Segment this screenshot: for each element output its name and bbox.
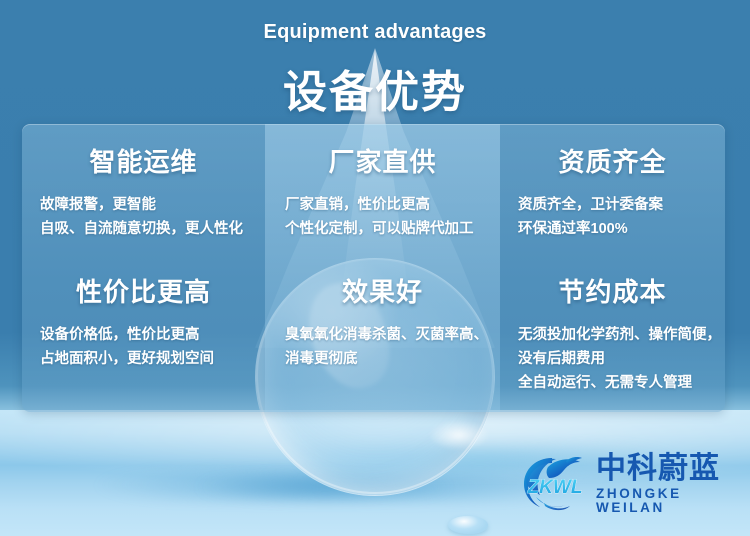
advantage-card-2-body: 厂家直销，性价比更高 个性化定制，可以贴牌代加工 (281, 193, 484, 241)
advantage-card-4-body: 设备价格低，性价比更高 占地面积小，更好规划空间 (38, 323, 249, 371)
brand-pinyin-name: ZHONGKE WEILAN (596, 487, 733, 514)
advantage-card-5-line-2: 消毒更彻底 (285, 347, 484, 371)
advantages-grid: 智能运维 故障报警，更智能 自吸、自流随意切换，更人性化 厂家直供 厂家直销，性… (22, 124, 725, 412)
brand-chinese-name: 中科蔚蓝 (596, 454, 733, 484)
dolphin-circle-icon: ZKWL (518, 453, 590, 515)
advantages-panel: 智能运维 故障报警，更智能 自吸、自流随意切换，更人性化 厂家直供 厂家直销，性… (22, 124, 725, 412)
advantage-card-5-body: 臭氧氧化消毒杀菌、灭菌率高、 消毒更彻底 (281, 323, 484, 371)
advantage-card-3-line-2: 环保通过率100% (518, 217, 709, 241)
advantage-card-1-line-1: 故障报警，更智能 (40, 193, 249, 217)
advantage-card-5-line-1: 臭氧氧化消毒杀菌、灭菌率高、 (285, 323, 484, 347)
poster-canvas: Equipment advantages 设备优势 智能运维 故障报警，更智能 … (0, 0, 750, 536)
brand-logo[interactable]: ZKWL 中科蔚蓝 ZHONGKE WEILAN (518, 450, 733, 518)
advantage-card-6-line-2: 没有后期费用 (518, 347, 709, 371)
advantage-card-3-body: 资质齐全，卫计委备案 环保通过率100% (516, 193, 709, 241)
advantage-card-3[interactable]: 资质齐全 资质齐全，卫计委备案 环保通过率100% (500, 124, 725, 258)
advantage-card-2-line-2: 个性化定制，可以贴牌代加工 (285, 217, 484, 241)
advantage-card-2-title: 厂家直供 (281, 142, 484, 179)
advantage-card-2[interactable]: 厂家直供 厂家直销，性价比更高 个性化定制，可以贴牌代加工 (265, 124, 500, 258)
advantage-card-1-title: 智能运维 (38, 142, 249, 179)
surface-highlight-left (0, 468, 560, 502)
advantage-card-5-title: 效果好 (281, 272, 484, 309)
advantage-card-4-line-1: 设备价格低，性价比更高 (40, 323, 249, 347)
advantage-card-6-title: 节约成本 (516, 272, 709, 309)
advantage-card-2-line-1: 厂家直销，性价比更高 (285, 193, 484, 217)
advantage-card-4[interactable]: 性价比更高 设备价格低，性价比更高 占地面积小，更好规划空间 (22, 258, 265, 412)
advantage-card-6[interactable]: 节约成本 无须投加化学药剂、操作简便， 没有后期费用 全自动运行、无需专人管理 (500, 258, 725, 412)
advantage-card-3-title: 资质齐全 (516, 142, 709, 179)
advantage-card-5[interactable]: 效果好 臭氧氧化消毒杀菌、灭菌率高、 消毒更彻底 (265, 258, 500, 412)
svg-text:ZKWL: ZKWL (527, 477, 583, 498)
advantage-card-4-title: 性价比更高 (38, 272, 249, 309)
advantage-card-4-line-2: 占地面积小，更好规划空间 (40, 347, 249, 371)
advantage-card-1-line-2: 自吸、自流随意切换，更人性化 (40, 217, 249, 241)
advantage-card-3-line-1: 资质齐全，卫计委备案 (518, 193, 709, 217)
advantage-card-1[interactable]: 智能运维 故障报警，更智能 自吸、自流随意切换，更人性化 (22, 124, 265, 258)
header-english-title: Equipment advantages (0, 21, 750, 44)
advantage-card-6-body: 无须投加化学药剂、操作简便， 没有后期费用 全自动运行、无需专人管理 (516, 323, 709, 395)
brand-logo-text: 中科蔚蓝 ZHONGKE WEILAN (596, 454, 733, 514)
advantage-card-6-line-1: 无须投加化学药剂、操作简便， (518, 323, 709, 347)
advantage-card-1-body: 故障报警，更智能 自吸、自流随意切换，更人性化 (38, 193, 249, 241)
advantage-card-6-line-3: 全自动运行、无需专人管理 (518, 371, 709, 395)
header-chinese-title: 设备优势 (0, 56, 750, 120)
